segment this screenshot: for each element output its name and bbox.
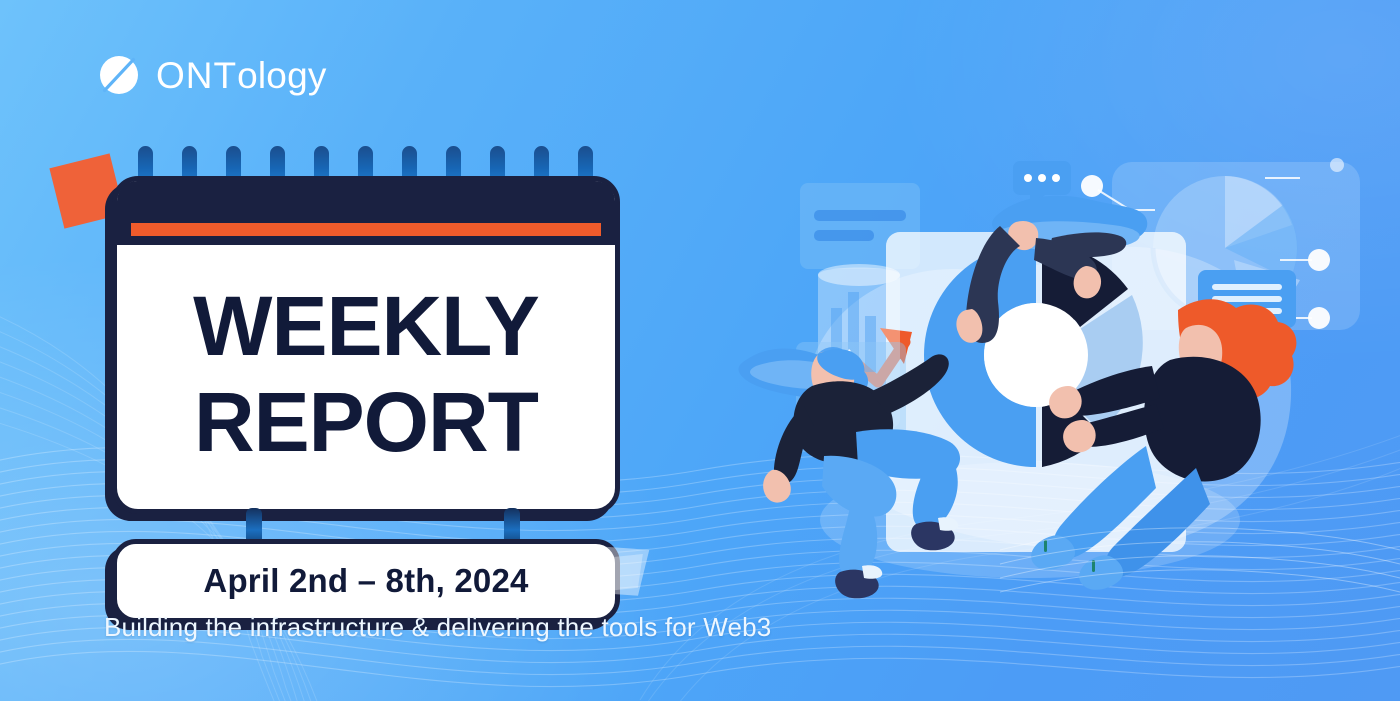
ontology-leaf-icon	[96, 52, 142, 98]
brand-wordmark: ONTology	[156, 57, 327, 94]
date-range-card: April 2nd – 8th, 2024	[112, 539, 620, 623]
brand-logo[interactable]: ONTology	[96, 52, 327, 98]
title-line-weekly: WEEKLY	[193, 279, 539, 373]
date-range-text: April 2nd – 8th, 2024	[203, 562, 528, 600]
calendar-title-area: WEEKLY REPORT	[117, 245, 615, 509]
banner-canvas: ONTology WEEKLY REPORT	[0, 0, 1400, 701]
illustration-teamwork-analytics	[700, 120, 1400, 620]
calendar-card: WEEKLY REPORT	[112, 176, 620, 514]
tagline-text: Building the infrastructure & delivering…	[104, 612, 771, 643]
calendar-header-bar	[117, 181, 615, 245]
brand-name-ology: ology	[237, 57, 326, 94]
calendar-accent-stripe	[131, 223, 601, 236]
brand-name-ont: ONT	[156, 57, 237, 94]
paper-decoration-2	[597, 554, 643, 592]
page-title: WEEKLY REPORT	[193, 285, 539, 464]
title-line-report: REPORT	[193, 381, 539, 463]
